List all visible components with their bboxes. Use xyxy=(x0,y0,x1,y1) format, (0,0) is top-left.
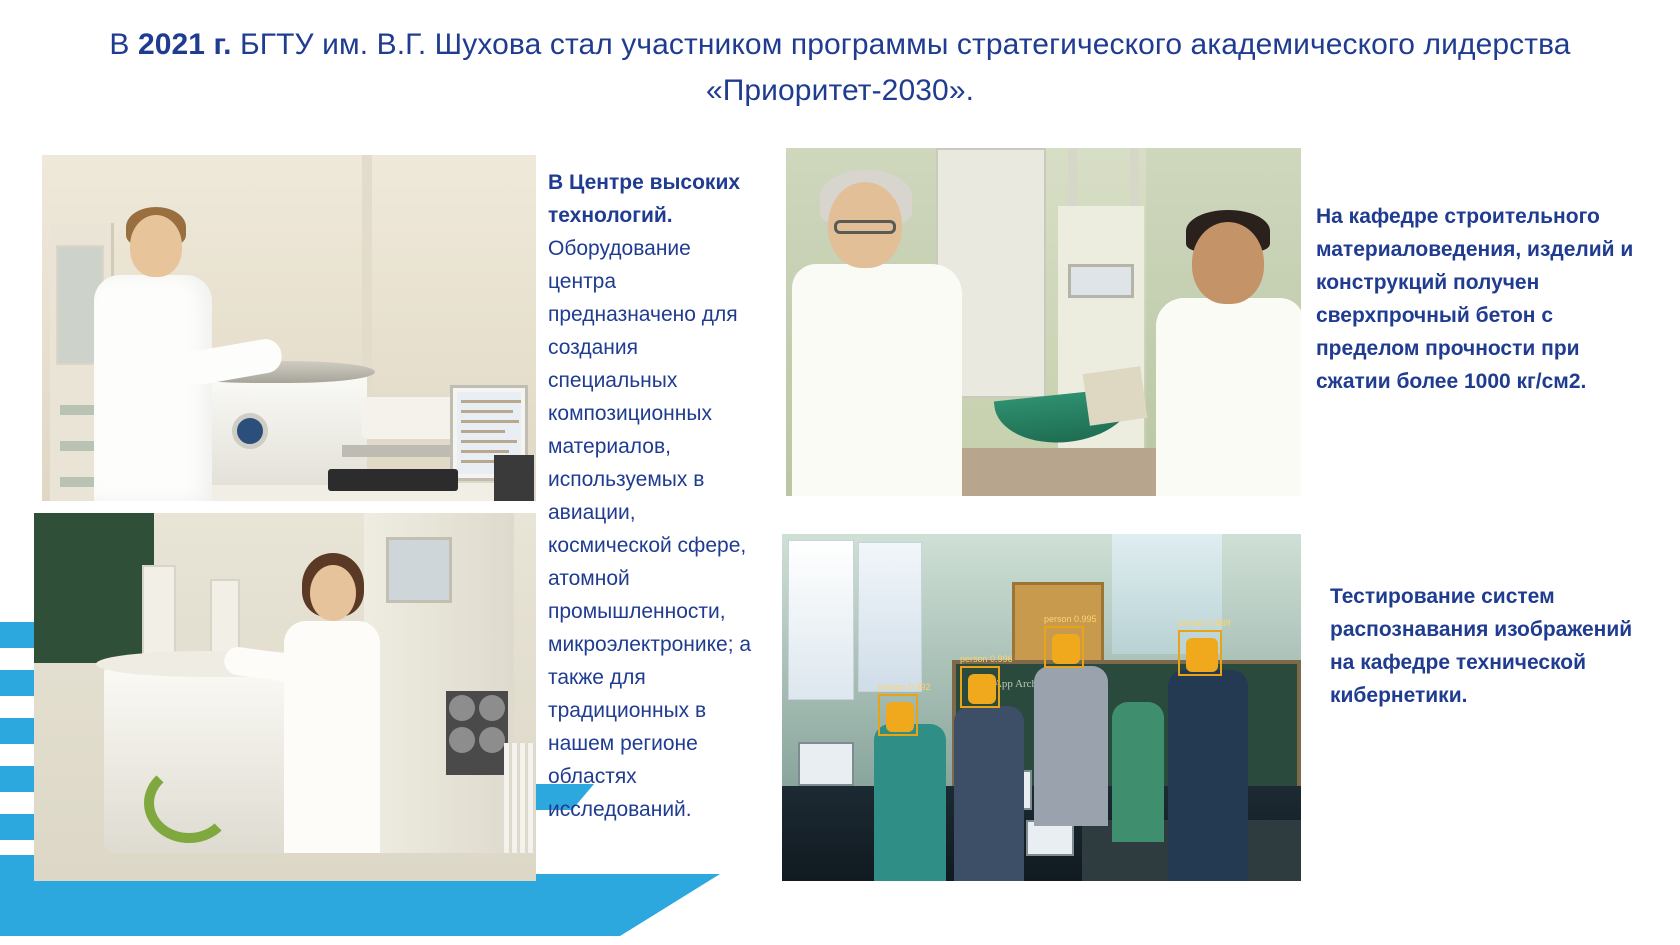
photo1-porthole xyxy=(232,413,268,449)
photo3-person2-head xyxy=(1192,222,1264,304)
photo2-person-head xyxy=(310,565,356,621)
right-top-text-block: На кафедре строительного материаловедени… xyxy=(1316,200,1646,398)
photo4-detection-label: person 0.996 xyxy=(960,654,1013,664)
title-year: 2021 г. xyxy=(138,28,232,61)
photo4-person-navy xyxy=(1168,670,1248,881)
photo4-detection-label: person 0.992 xyxy=(878,682,931,692)
photo3-person2-coat xyxy=(1156,298,1301,496)
photo2-fan-array xyxy=(446,691,508,775)
photo4-detection-box xyxy=(960,666,1000,708)
photo2-person-body xyxy=(284,621,380,853)
photo4-face-blur xyxy=(1052,634,1080,664)
photo-face-recognition-classroom: ACT App Architecture person 0.992 person… xyxy=(782,534,1301,881)
photo4-person-darkblue xyxy=(954,706,1024,881)
photo3-concrete-sample xyxy=(1083,366,1148,426)
photo-materials-testing xyxy=(786,148,1301,496)
photo4-face-blur xyxy=(886,702,914,732)
photo4-person-green xyxy=(1112,702,1164,842)
photo2-fan xyxy=(449,695,475,721)
right-bottom-text-block: Тестирование систем распознавания изобра… xyxy=(1330,580,1650,712)
photo-lab-furnace xyxy=(34,513,536,881)
photo1-screen-line xyxy=(461,440,517,443)
photo4-detection-label: person 0.989 xyxy=(1178,618,1231,628)
photo2-fan xyxy=(449,727,475,753)
photo-lab-vacuum-chamber xyxy=(42,155,536,501)
photo4-person-grey xyxy=(1034,666,1108,826)
photo2-radiator xyxy=(504,743,536,853)
photo4-person-teal xyxy=(874,724,946,881)
photo1-screen-line xyxy=(461,450,509,453)
photo2-furnace-tower xyxy=(142,565,176,659)
title-line2: «Приоритет-2030». xyxy=(706,74,974,107)
photo2-fan xyxy=(479,695,505,721)
photo3-press-display xyxy=(1068,264,1134,298)
center-text-heading: В Центре высоких технологий. xyxy=(548,171,740,227)
title-rest: БГТУ им. В.Г. Шухова стал участником про… xyxy=(232,28,1571,61)
photo1-screen-line xyxy=(461,410,513,413)
center-text-body: Оборудование центра предназначено для со… xyxy=(548,237,751,821)
photo2-green-hose xyxy=(144,763,234,843)
title-lead: В xyxy=(109,28,138,61)
photo4-poster-2 xyxy=(858,542,922,692)
photo2-chalkboard xyxy=(34,513,154,663)
bottom-diagonal-band xyxy=(0,874,760,936)
photo4-monitor xyxy=(798,742,854,786)
photo1-screen-line xyxy=(461,430,505,433)
photo3-person1-glasses xyxy=(834,220,896,234)
photo1-screen-line xyxy=(461,400,521,403)
photo4-face-blur xyxy=(968,674,996,704)
presentation-slide: В 2021 г. БГТУ им. В.Г. Шухова стал учас… xyxy=(0,0,1680,945)
photo1-screen-line xyxy=(461,420,519,423)
photo1-pc-tower xyxy=(494,455,534,501)
photo4-detection-box xyxy=(1178,630,1222,676)
photo3-person1-coat xyxy=(792,264,962,496)
slide-title: В 2021 г. БГТУ им. В.Г. Шухова стал учас… xyxy=(0,22,1680,114)
photo4-poster-1 xyxy=(788,540,854,700)
photo2-fan xyxy=(479,727,505,753)
photo2-cabinet-window xyxy=(386,537,452,603)
photo1-keyboard xyxy=(328,469,458,491)
photo4-face-blur xyxy=(1186,638,1218,672)
photo4-detection-label: person 0.995 xyxy=(1044,614,1097,624)
photo1-person-head xyxy=(130,215,182,277)
photo4-detection-box xyxy=(1044,626,1084,668)
photo4-detection-box xyxy=(878,694,918,736)
center-text-block: В Центре высоких технологий. Оборудовани… xyxy=(548,166,764,826)
photo1-person-body xyxy=(94,275,212,501)
